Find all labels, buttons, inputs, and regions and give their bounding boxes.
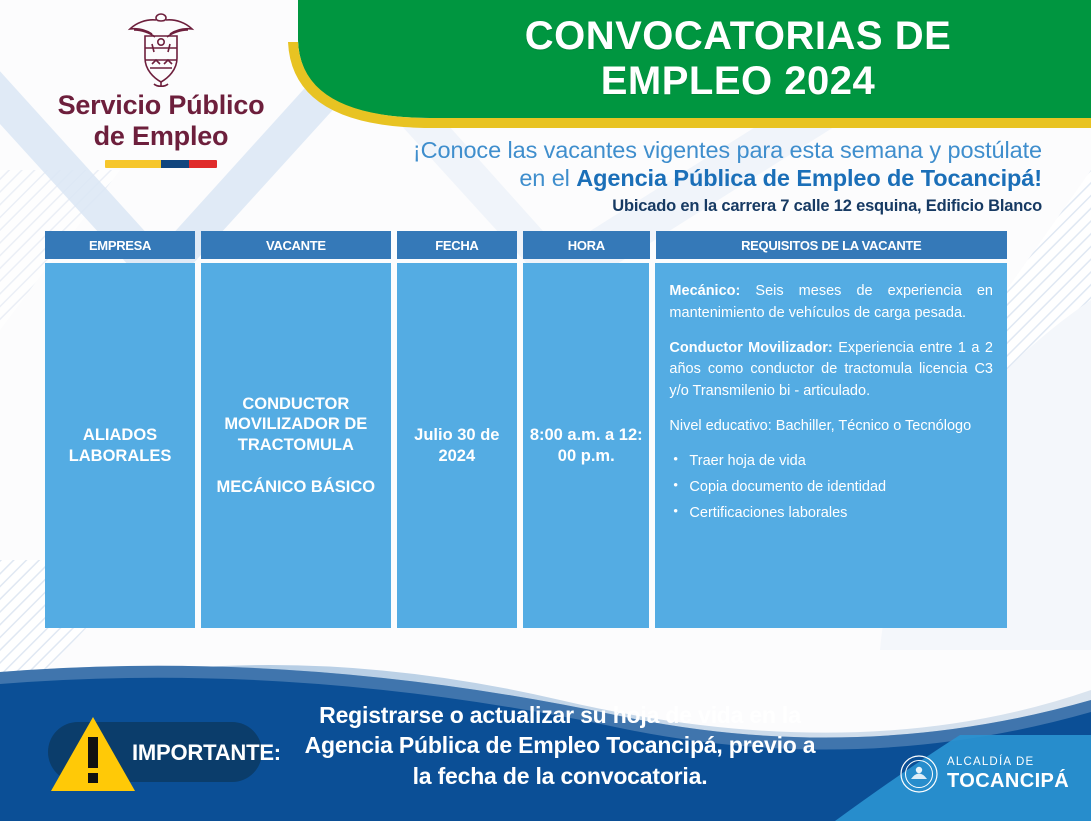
page-title: CONVOCATORIAS DE EMPLEO 2024 [398,14,1078,104]
footer-message-line2: Agencia Pública de Empleo Tocancipá, pre… [280,730,840,760]
subtitle-line2: en el Agencia Pública de Empleo de Tocan… [330,164,1042,192]
page-title-line2: EMPLEO 2024 [398,59,1078,104]
table-header-fecha: FECHA [397,231,517,259]
servicio-publico-logo: Servicio Público de Empleo [36,8,286,168]
cell-fecha: Julio 30 de 2024 [397,263,517,628]
requisito-mecanico-label: Mecánico: [669,283,740,299]
cell-vacante-spacer [205,455,387,477]
cell-empresa: ALIADOS LABORALES [45,263,195,628]
requisito-bullet: Traer hoja de vida [669,451,993,472]
alcaldia-line1: ALCALDÍA DE [947,757,1069,769]
table-header-vacante: VACANTE [201,231,391,259]
subtitle-line2-strong: Agencia Pública de Empleo de Tocancipá! [576,165,1042,191]
requisito-mecanico: Mecánico: Seis meses de experiencia en m… [669,281,993,325]
warning-triangle-icon [50,715,136,793]
requisito-bullet: Copia documento de identidad [669,477,993,498]
requisitos-bullet-list: Traer hoja de vida Copia documento de id… [669,451,993,524]
footer-message-line1: Registrarse o actualizar su hoja de vida… [280,700,840,730]
footer-message-line3: la fecha de la convocatoria. [280,761,840,791]
footer-message: Registrarse o actualizar su hoja de vida… [280,700,840,791]
requisito-bullet: Certificaciones laborales [669,503,993,524]
subtitle-line2-prefix: en el [519,165,576,191]
table-row: ALIADOS LABORALES CONDUCTOR MOVILIZADOR … [45,263,1007,628]
cell-vacante: CONDUCTOR MOVILIZADOR DE TRACTOMULA MECÁ… [201,263,391,628]
requisito-nivel-educativo: Nivel educativo: Bachiller, Técnico o Te… [669,416,993,438]
colombia-flag-bar-icon [105,160,217,168]
vacancies-table: EMPRESA VACANTE FECHA HORA REQUISITOS DE… [45,231,1007,628]
subtitle-line1-text: ¡Conoce las vacantes vigentes para esta … [413,137,1042,163]
logo-title-line1: Servicio Público [36,90,286,121]
poster-root: Servicio Público de Empleo CONVOCATORIAS… [0,0,1091,821]
cell-requisitos: Mecánico: Seis meses de experiencia en m… [655,263,1007,628]
cell-hora: 8:00 a.m. a 12: 00 p.m. [523,263,649,628]
subtitle-block: ¡Conoce las vacantes vigentes para esta … [330,136,1042,216]
important-label: IMPORTANTE: [132,740,281,766]
logo-title: Servicio Público de Empleo [36,90,286,151]
table-header-hora: HORA [523,231,649,259]
logo-title-line2: de Empleo [36,121,286,152]
page-title-line1: CONVOCATORIAS DE [398,14,1078,59]
alcaldia-logo: ALCALDÍA DE TOCANCIPÁ [900,755,1069,793]
alcaldia-text: ALCALDÍA DE TOCANCIPÁ [947,757,1069,791]
cell-vacante-line1: CONDUCTOR MOVILIZADOR DE TRACTOMULA [205,394,387,454]
colombia-coat-of-arms-icon [124,8,198,88]
subtitle-address: Ubicado en la carrera 7 calle 12 esquina… [330,197,1042,216]
requisito-conductor: Conductor Movilizador: Experiencia entre… [669,338,993,403]
subtitle-line1: ¡Conoce las vacantes vigentes para esta … [330,136,1042,164]
table-header-empresa: EMPRESA [45,231,195,259]
cell-vacante-line2: MECÁNICO BÁSICO [205,477,387,497]
requisito-conductor-label: Conductor Movilizador: [669,340,832,356]
alcaldia-line2: TOCANCIPÁ [947,771,1069,791]
table-header-requisitos: REQUISITOS DE LA VACANTE [656,231,1008,259]
alcaldia-seal-icon [900,755,938,793]
table-header-row: EMPRESA VACANTE FECHA HORA REQUISITOS DE… [45,231,1007,259]
